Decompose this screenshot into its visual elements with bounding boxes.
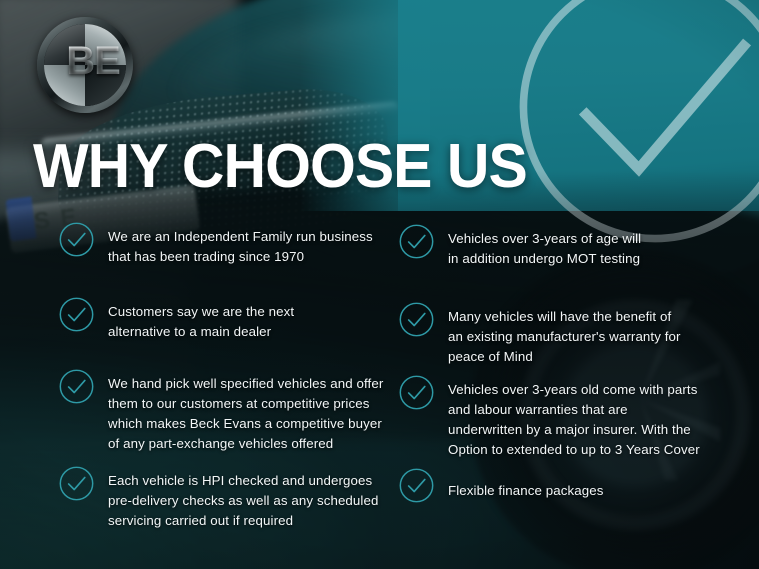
circle-check-icon bbox=[398, 301, 435, 338]
list-item: We hand pick well specified vehicles and… bbox=[58, 370, 383, 454]
list-item-label: Vehicles over 3-years of age will in add… bbox=[448, 225, 641, 269]
list-item: Customers say we are the next alternativ… bbox=[58, 298, 294, 342]
benefits-columns: We are an Independent Family run busines… bbox=[0, 0, 759, 569]
list-item-label: Flexible finance packages bbox=[448, 469, 604, 501]
circle-check-icon bbox=[398, 467, 435, 504]
list-item-label: We are an Independent Family run busines… bbox=[108, 223, 373, 267]
circle-check-icon bbox=[58, 221, 95, 258]
circle-check-icon bbox=[398, 374, 435, 411]
circle-check-icon bbox=[398, 223, 435, 260]
list-item-label: We hand pick well specified vehicles and… bbox=[108, 370, 383, 454]
list-item: Flexible finance packages bbox=[398, 469, 604, 504]
why-choose-us-banner: S E BE WHY CHOOSE US bbox=[0, 0, 759, 569]
list-item-label: Many vehicles will have the benefit of a… bbox=[448, 303, 681, 367]
list-item: Vehicles over 3-years old come with part… bbox=[398, 376, 700, 460]
list-item: Vehicles over 3-years of age will in add… bbox=[398, 225, 641, 269]
circle-check-icon bbox=[58, 465, 95, 502]
circle-check-icon bbox=[58, 296, 95, 333]
list-item: Each vehicle is HPI checked and undergoe… bbox=[58, 467, 378, 531]
list-item-label: Each vehicle is HPI checked and undergoe… bbox=[108, 467, 378, 531]
list-item-label: Customers say we are the next alternativ… bbox=[108, 298, 294, 342]
list-item: Many vehicles will have the benefit of a… bbox=[398, 303, 681, 367]
circle-check-icon bbox=[58, 368, 95, 405]
list-item: We are an Independent Family run busines… bbox=[58, 223, 373, 267]
list-item-label: Vehicles over 3-years old come with part… bbox=[448, 376, 700, 460]
